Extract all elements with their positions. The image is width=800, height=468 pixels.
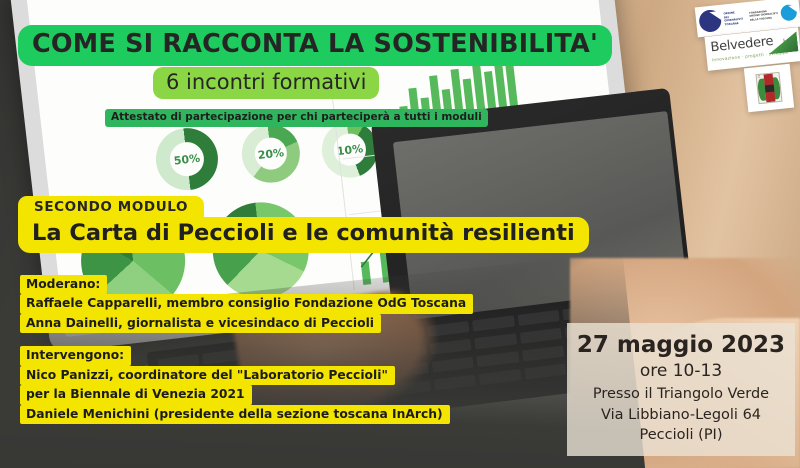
moderator-item: Raffaele Capparelli, membro consiglio Fo… <box>20 294 473 313</box>
donut-chart-20: 20% <box>239 121 303 185</box>
odg-secondary-mark-icon <box>780 4 798 22</box>
event-venue-line2: Via Libbiano-Legoli 64 <box>575 405 787 426</box>
poster-root: 50% 20% 10% <box>0 0 800 468</box>
logo-comune-peccioli: Comune di Peccioli <box>744 64 794 113</box>
module-block: SECONDO MODULO La Carta di Peccioli e le… <box>18 196 589 253</box>
donut-chart-50: 50% <box>153 125 222 194</box>
moderators-label: Moderano: <box>20 275 107 294</box>
comune-name: Comune di Peccioli <box>755 72 760 78</box>
odg-text: ORDINE DEI GIORNALISTI TOSCANA <box>723 11 743 27</box>
speaker-item: Nico Panizzi, coordinatore del "Laborato… <box>20 366 395 385</box>
speakers-label: Intervengono: <box>20 346 131 365</box>
people-block: Moderano: Raffaele Capparelli, membro co… <box>20 275 473 424</box>
donut-label-20: 20% <box>253 136 289 172</box>
certificate-note: Attestato di partecipazione per chi part… <box>105 109 488 127</box>
coat-of-arms-icon: Comune di Peccioli <box>755 72 782 104</box>
module-title: La Carta di Peccioli e le comunità resil… <box>18 217 589 254</box>
speaker-item: Daniele Menichini (presidente della sezi… <box>20 405 450 424</box>
module-kicker: SECONDO MODULO <box>18 196 204 218</box>
event-venue-line3: Peccioli (PI) <box>575 425 787 446</box>
event-info-panel: 27 maggio 2023 ore 10-13 Presso il Trian… <box>567 323 795 456</box>
poster-subtitle: 6 incontri formativi <box>153 67 379 99</box>
event-date: 27 maggio 2023 <box>575 333 787 359</box>
event-venue-line1: Presso il Triangolo Verde <box>575 384 787 405</box>
poster-title: COME SI RACCONTA LA SOSTENIBILITA' <box>18 25 612 66</box>
odg-mark-icon <box>698 9 722 33</box>
odg-secondary-text: FONDAZIONE ORDINE GIORNALISTI DELLA TOSC… <box>749 9 778 22</box>
speaker-item: per la Biennale di Venezia 2021 <box>20 385 252 404</box>
event-time: ore 10-13 <box>575 359 787 385</box>
donut-label-50: 50% <box>168 140 206 178</box>
moderator-item: Anna Dainelli, giornalista e vicesindaco… <box>20 314 381 333</box>
